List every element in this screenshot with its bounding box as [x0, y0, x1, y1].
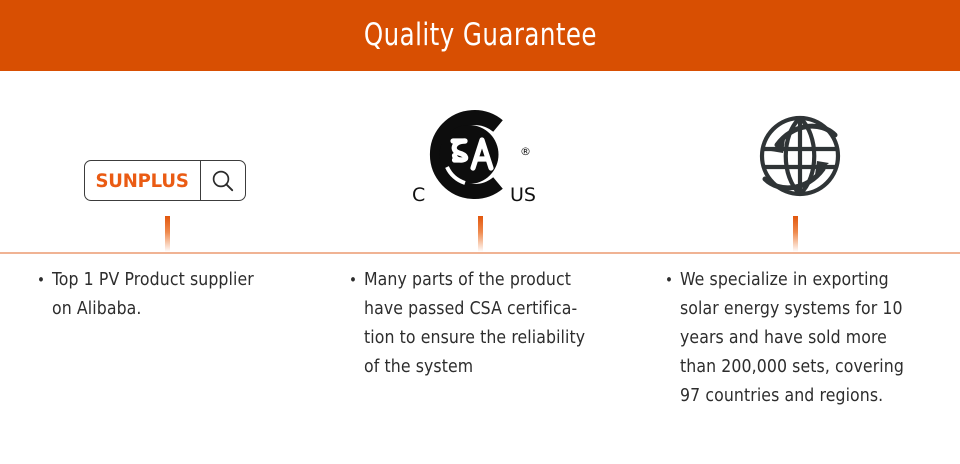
connector-tick-1 — [165, 216, 170, 252]
registered-trademark-icon: ® — [520, 145, 531, 158]
page-title: Quality Guarantee — [363, 20, 596, 51]
icon-cell-globe — [640, 71, 960, 252]
bullet-item: Many parts of the product have passed CS… — [348, 266, 648, 382]
sunplus-text-compartment: SUNPLUS — [85, 161, 201, 200]
sunplus-search-logo: SUNPLUS — [84, 160, 246, 201]
search-icon — [210, 168, 236, 194]
text-column-2: Many parts of the product have passed CS… — [348, 266, 648, 382]
bullet-line: 97 countries and regions. — [680, 382, 954, 411]
csa-logo-icon — [415, 107, 520, 202]
horizontal-divider — [0, 252, 960, 254]
header-banner: Quality Guarantee — [0, 0, 960, 71]
bullet-line: Top 1 PV Product supplier — [52, 266, 336, 295]
bullet-line: tion to ensure the reliability — [364, 324, 648, 353]
text-row: Top 1 PV Product supplier on Alibaba. Ma… — [0, 266, 960, 464]
bullet-item: Top 1 PV Product supplier on Alibaba. — [36, 266, 336, 324]
sunplus-search-compartment — [201, 161, 245, 200]
bullet-line: on Alibaba. — [52, 295, 336, 324]
bullet-line: solar energy systems for 10 — [680, 295, 954, 324]
csa-label-us: US — [510, 184, 536, 206]
csa-certification-mark: ® C US — [360, 107, 600, 227]
quality-guarantee-page: Quality Guarantee SUNPLUS — [0, 0, 960, 464]
bullet-item: We specialize in exporting solar energy … — [664, 266, 954, 411]
icon-cell-sunplus: SUNPLUS — [0, 71, 320, 252]
text-column-1: Top 1 PV Product supplier on Alibaba. — [36, 266, 336, 324]
bullet-line: Many parts of the product — [364, 266, 648, 295]
bullet-line: have passed CSA certifica- — [364, 295, 648, 324]
sunplus-wordmark: SUNPLUS — [96, 170, 189, 192]
connector-tick-3 — [793, 216, 798, 252]
bullet-line: years and have sold more — [680, 324, 954, 353]
text-column-3: We specialize in exporting solar energy … — [664, 266, 954, 411]
bullet-line: We specialize in exporting — [680, 266, 954, 295]
connector-tick-2 — [478, 216, 483, 252]
csa-label-canada: C — [412, 184, 425, 206]
bullet-line: of the system — [364, 353, 648, 382]
global-export-globe-icon — [753, 109, 847, 203]
bullet-line: than 200,000 sets, covering — [680, 353, 954, 382]
